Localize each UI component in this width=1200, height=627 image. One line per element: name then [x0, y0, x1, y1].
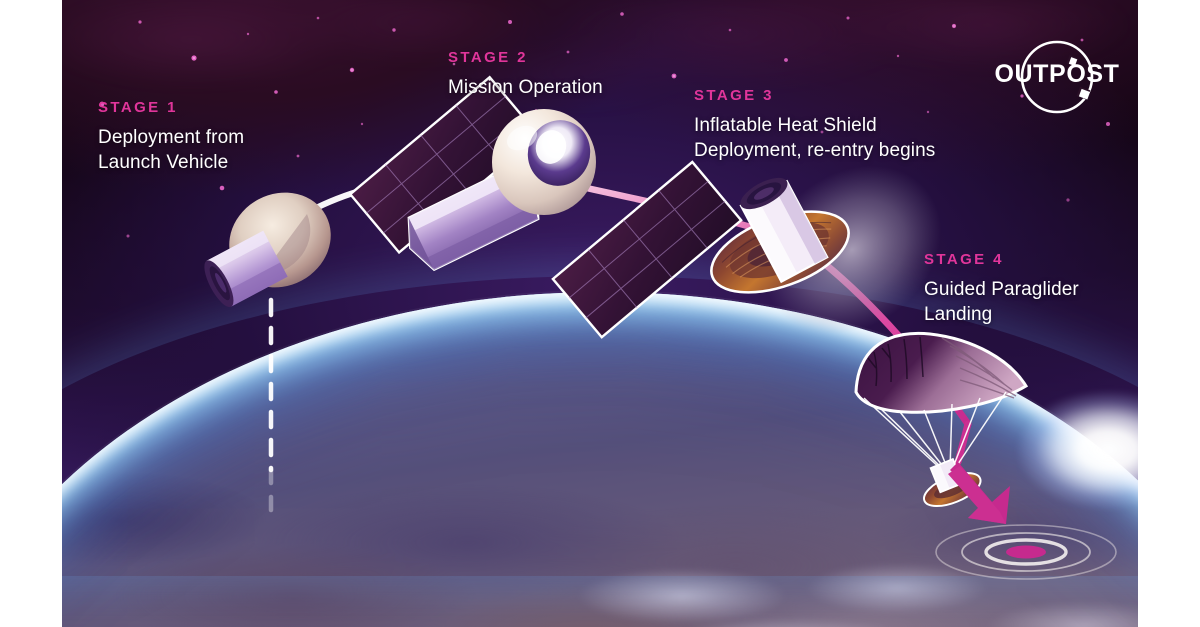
stage-1-kicker: STAGE 1 — [98, 100, 244, 115]
stage-1-title: Deployment from Launch Vehicle — [98, 125, 244, 176]
earth-globe — [62, 292, 1138, 627]
earth-clouds — [62, 292, 1138, 627]
artwork-frame: STAGE 1 Deployment from Launch Vehicle S… — [62, 0, 1138, 627]
stage-2-kicker: STAGE 2 — [448, 50, 603, 65]
stage-3-label-block: STAGE 3 Inflatable Heat Shield Deploymen… — [694, 88, 935, 164]
stage-2-label-block: STAGE 2 Mission Operation — [448, 50, 603, 100]
stage-2-title: Mission Operation — [448, 75, 603, 100]
outpost-logo[interactable]: OUTPOST — [992, 36, 1122, 118]
infographic-root: STAGE 1 Deployment from Launch Vehicle S… — [0, 0, 1200, 627]
stage-1-label-block: STAGE 1 Deployment from Launch Vehicle — [98, 100, 244, 176]
stage-3-title: Inflatable Heat Shield Deployment, re-en… — [694, 113, 935, 164]
stage-3-kicker: STAGE 3 — [694, 88, 935, 103]
stage-4-kicker: STAGE 4 — [924, 252, 1079, 267]
outpost-wordmark: OUTPOST — [992, 62, 1122, 87]
stage-4-label-block: STAGE 4 Guided Paraglider Landing — [924, 252, 1079, 328]
stage-4-title: Guided Paraglider Landing — [924, 277, 1079, 328]
